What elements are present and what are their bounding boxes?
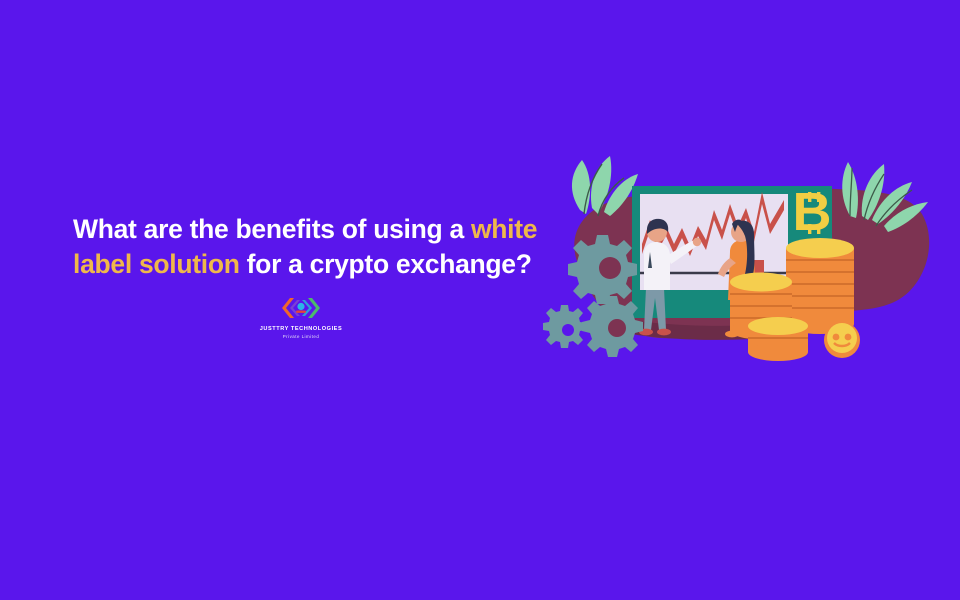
gear-large [568,235,637,304]
justtry-logo-icon [255,297,347,324]
page-title: What are the benefits of using a white l… [73,212,573,282]
slide-canvas: What are the benefits of using a white l… [0,0,960,600]
coin-stack-short [748,317,808,361]
headline-part-1: What are the benefits of using a [73,214,471,244]
brand-suffix: Private Limited [255,334,347,339]
brand-name: JUSTTRY TECHNOLOGIES [255,326,347,332]
gear-medium [582,296,643,357]
bitcoin-icon: B [793,182,832,242]
headline-part-2: for a crypto exchange? [240,249,532,279]
single-coin [824,322,860,358]
crypto-exchange-illustration: B [540,148,960,393]
svg-text:B: B [793,182,832,242]
brand-logo: JUSTTRY TECHNOLOGIES Private Limited [255,297,347,339]
gear-small [543,305,586,348]
